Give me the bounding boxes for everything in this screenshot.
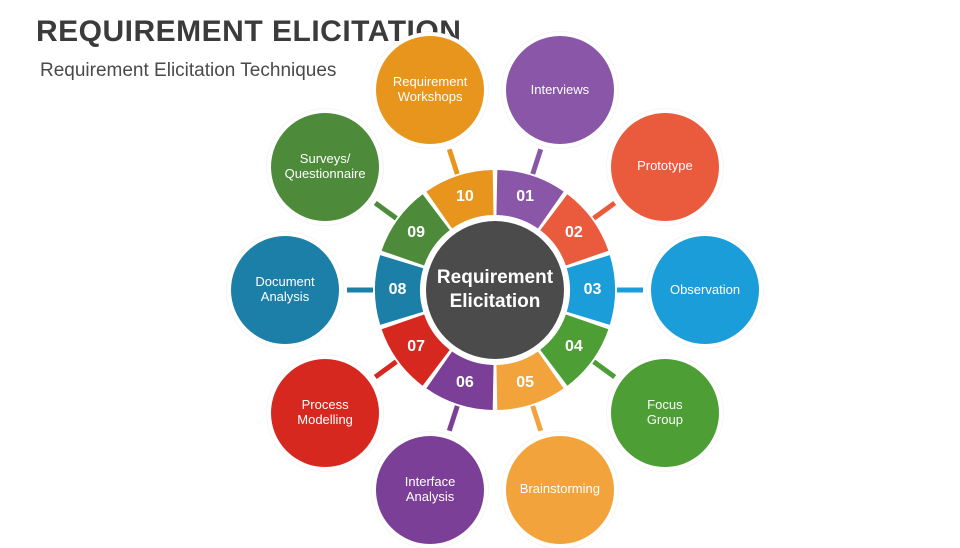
technique-label: Interviews bbox=[523, 83, 598, 98]
slide-canvas: REQUIREMENT ELICITATION Requirement Elic… bbox=[0, 0, 960, 540]
technique-bubble-04[interactable]: Focus Group bbox=[607, 355, 723, 471]
technique-bubble-02[interactable]: Prototype bbox=[607, 109, 723, 225]
technique-label: Process Modelling bbox=[289, 398, 361, 428]
connector-06 bbox=[449, 406, 457, 431]
connector-09 bbox=[375, 203, 396, 218]
technique-label: Surveys/ Questionnaire bbox=[277, 152, 374, 182]
technique-label: Requirement Workshops bbox=[385, 75, 475, 105]
connector-10 bbox=[449, 149, 457, 174]
technique-bubble-03[interactable]: Observation bbox=[647, 232, 763, 348]
hub-label: Requirement Elicitation bbox=[426, 221, 564, 359]
connector-04 bbox=[594, 362, 615, 377]
technique-bubble-09[interactable]: Surveys/ Questionnaire bbox=[267, 109, 383, 225]
technique-label: Interface Analysis bbox=[397, 475, 464, 505]
connector-02 bbox=[594, 203, 615, 218]
technique-label: Prototype bbox=[629, 159, 701, 174]
technique-bubble-08[interactable]: Document Analysis bbox=[227, 232, 343, 348]
technique-label: Document Analysis bbox=[247, 275, 322, 305]
technique-bubble-01[interactable]: Interviews bbox=[502, 32, 618, 148]
hub-circle: Requirement Elicitation bbox=[426, 221, 564, 359]
connector-07 bbox=[375, 362, 396, 377]
technique-label: Observation bbox=[662, 283, 748, 298]
technique-bubble-07[interactable]: Process Modelling bbox=[267, 355, 383, 471]
technique-label: Focus Group bbox=[639, 398, 691, 428]
wheel-segment-03[interactable] bbox=[567, 255, 615, 325]
wheel-segment-08[interactable] bbox=[375, 255, 423, 325]
technique-bubble-06[interactable]: Interface Analysis bbox=[372, 432, 488, 548]
technique-bubble-10[interactable]: Requirement Workshops bbox=[372, 32, 488, 148]
requirement-elicitation-wheel: InterviewsPrototypeObservationFocus Grou… bbox=[230, 40, 960, 540]
connector-05 bbox=[533, 406, 541, 431]
technique-bubble-05[interactable]: Brainstorming bbox=[502, 432, 618, 548]
connector-01 bbox=[533, 149, 541, 174]
technique-label: Brainstorming bbox=[512, 482, 608, 497]
